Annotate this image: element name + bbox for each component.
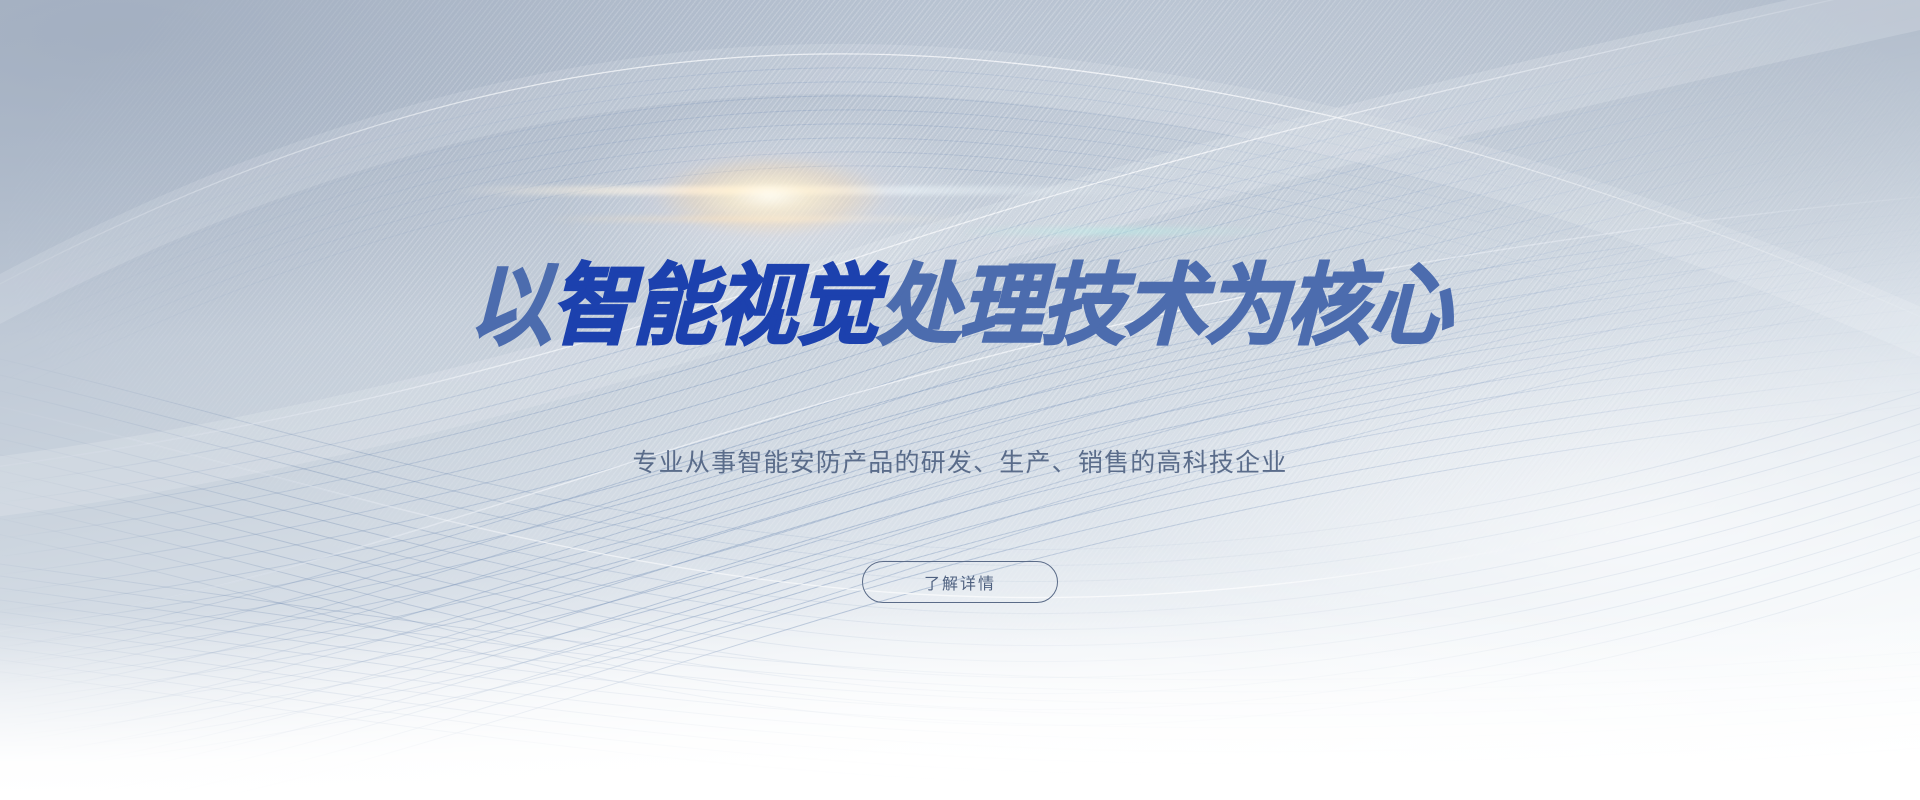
- hero-banner: 以智能视觉处理技术为核心 专业从事智能安防产品的研发、生产、销售的高科技企业 了…: [0, 0, 1920, 800]
- hero-content: 以智能视觉处理技术为核心 专业从事智能安防产品的研发、生产、销售的高科技企业 了…: [0, 0, 1920, 800]
- learn-more-button[interactable]: 了解详情: [862, 561, 1058, 603]
- headline-segment-3: 处理技术为核心: [877, 256, 1451, 355]
- headline-segment-2-accent: 智能视觉: [550, 256, 879, 355]
- hero-subtitle: 专业从事智能安防产品的研发、生产、销售的高科技企业: [632, 451, 1287, 476]
- page-title: 以智能视觉处理技术为核心: [469, 262, 1452, 350]
- headline-segment-1: 以: [468, 256, 551, 355]
